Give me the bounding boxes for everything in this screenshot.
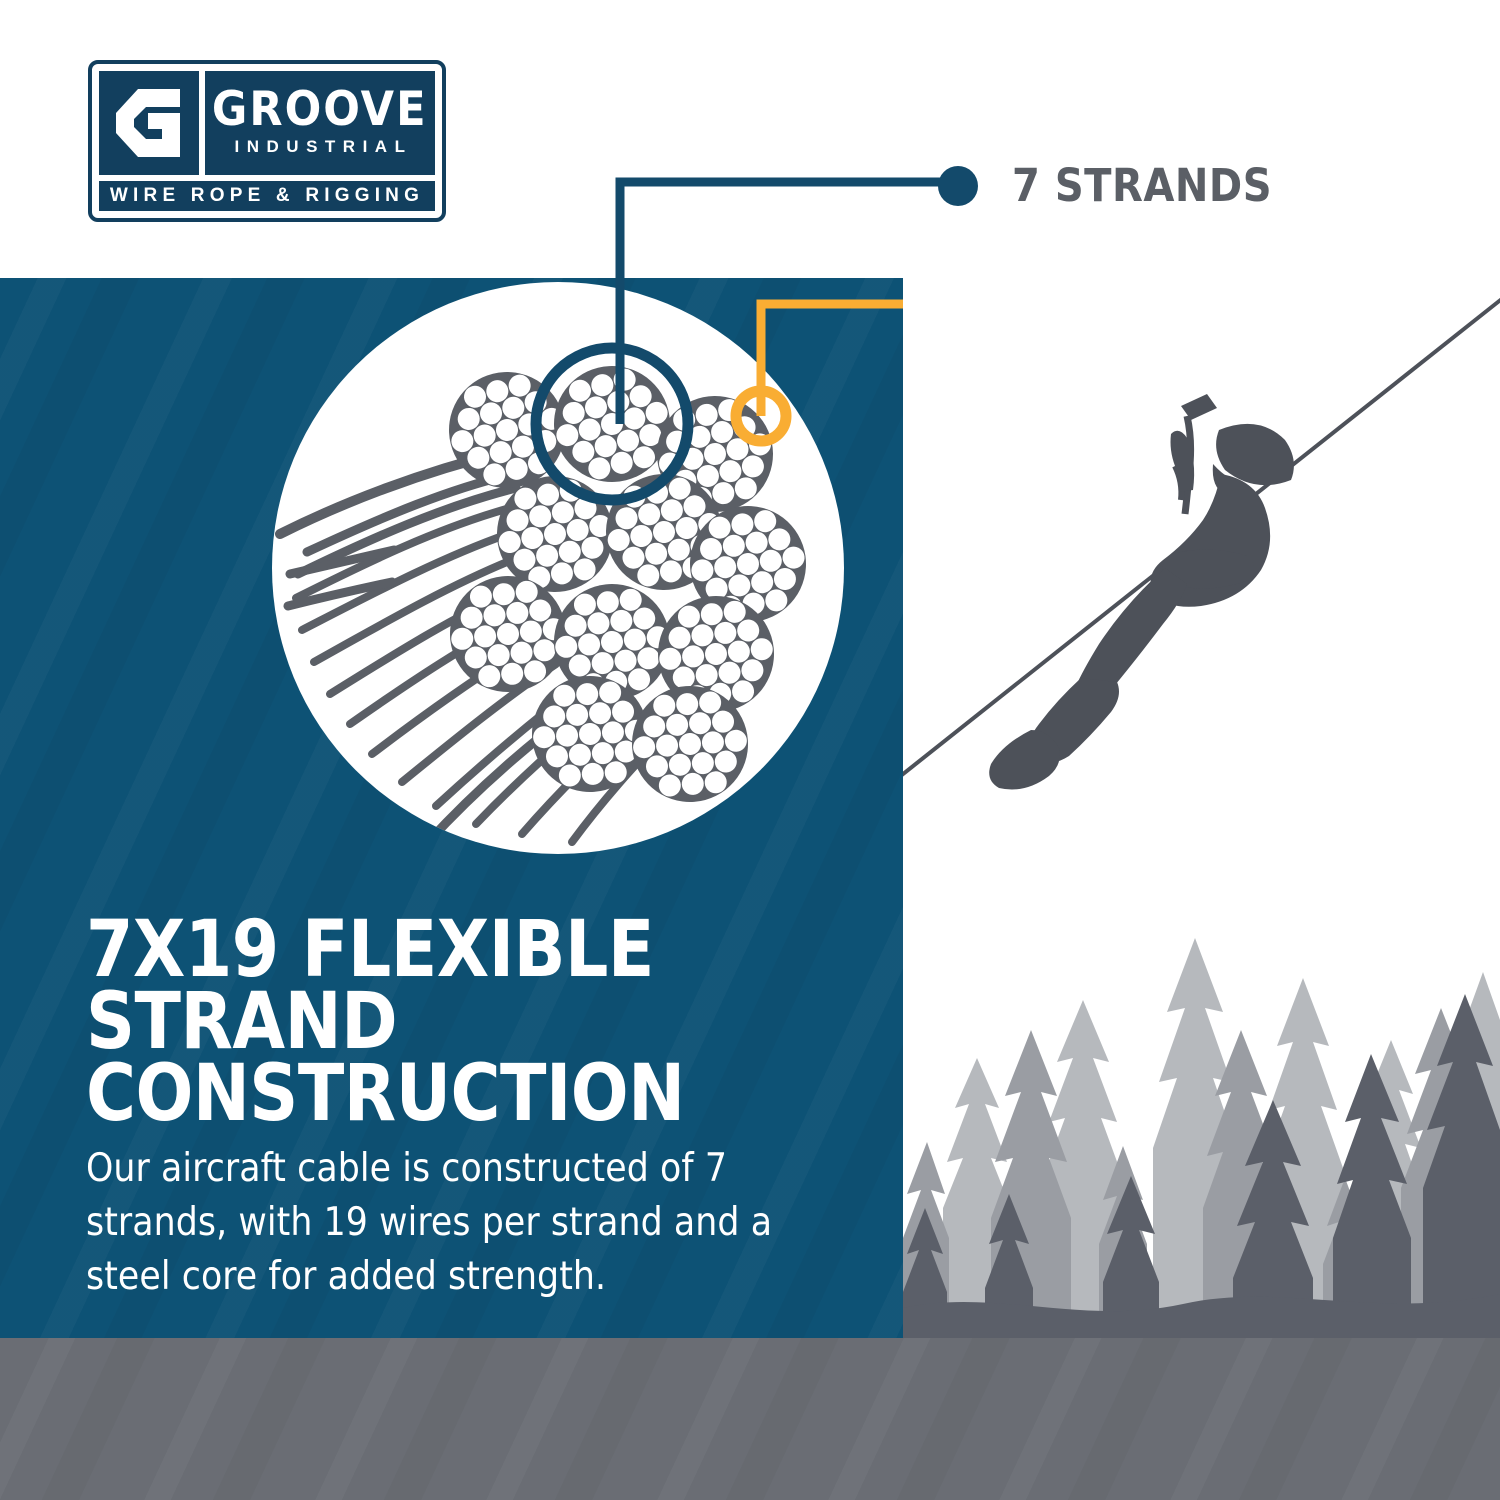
zipline-photo bbox=[903, 278, 1500, 1338]
band-stripe-texture bbox=[0, 1338, 1500, 1500]
callout-7-strands[interactable]: 7 STRANDS bbox=[938, 159, 1275, 212]
infographic-canvas: GROOVE INDUSTRIAL WIRE ROPE & RIGGING bbox=[0, 0, 1500, 1500]
page-title-line-2: STRAND CONSTRUCTION bbox=[86, 987, 852, 1131]
bottom-gray-band bbox=[0, 1338, 1500, 1500]
body-paragraph: Our aircraft cable is constructed of 7 s… bbox=[86, 1142, 779, 1303]
callout-dot-icon bbox=[938, 166, 978, 206]
page-title: 7X19 FLEXIBLE STRAND CONSTRUCTION bbox=[86, 915, 852, 1130]
callout-label: 7 STRANDS bbox=[1012, 159, 1272, 212]
